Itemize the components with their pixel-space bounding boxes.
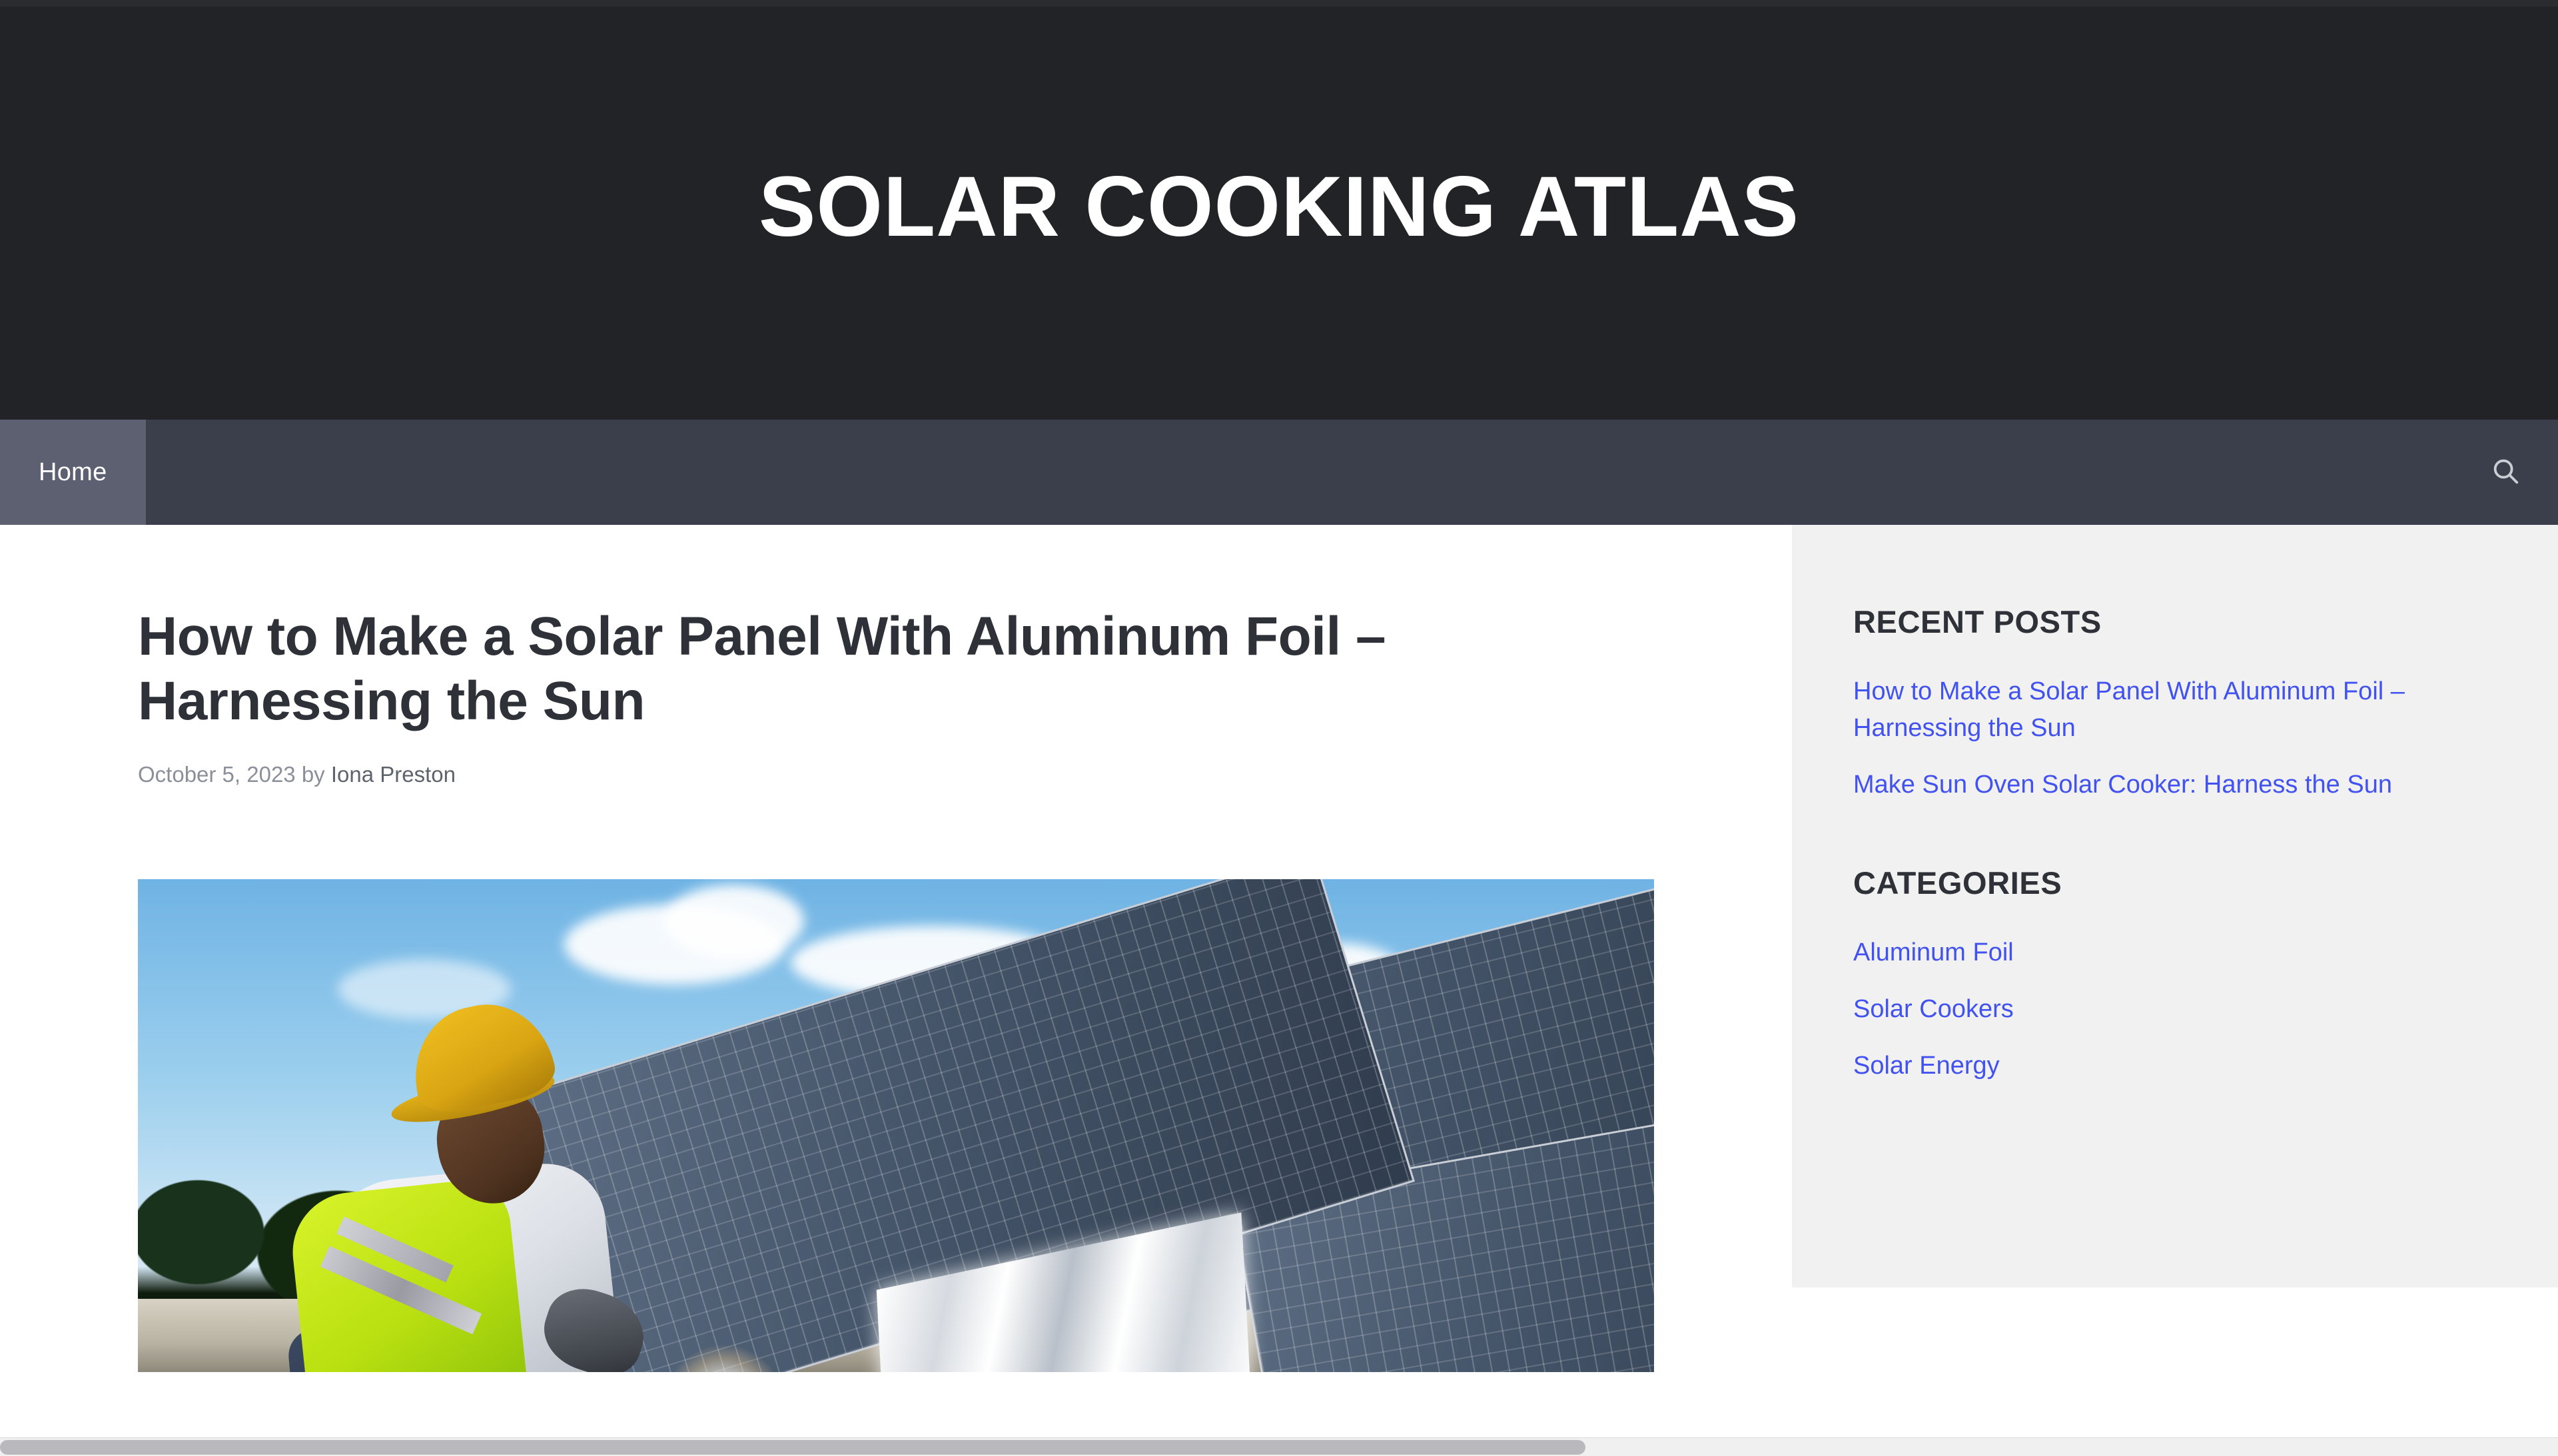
list-item: Aluminum Foil bbox=[1853, 934, 2495, 971]
content-area: How to Make a Solar Panel With Aluminum … bbox=[0, 525, 2558, 1403]
nav-spacer bbox=[146, 420, 2453, 525]
article-title: How to Make a Solar Panel With Aluminum … bbox=[138, 605, 1670, 734]
article-by-label: by bbox=[302, 762, 325, 787]
cloud-shape bbox=[664, 885, 804, 958]
horizontal-scrollbar[interactable] bbox=[0, 1437, 2558, 1456]
category-link-solar-energy[interactable]: Solar Energy bbox=[1853, 1048, 2000, 1084]
recent-post-link-1[interactable]: How to Make a Solar Panel With Aluminum … bbox=[1853, 673, 2495, 747]
widget-title-recent-posts: RECENT POSTS bbox=[1853, 603, 2495, 640]
article-main: How to Make a Solar Panel With Aluminum … bbox=[0, 525, 1792, 787]
horizontal-scrollbar-thumb[interactable] bbox=[0, 1440, 1585, 1455]
list-item: Make Sun Oven Solar Cooker: Harness the … bbox=[1853, 767, 2495, 803]
category-link-aluminum-foil[interactable]: Aluminum Foil bbox=[1853, 934, 2014, 971]
list-item: How to Make a Solar Panel With Aluminum … bbox=[1853, 673, 2495, 747]
widget-categories: CATEGORIES Aluminum Foil Solar Cookers S… bbox=[1853, 865, 2495, 1084]
search-toggle-button[interactable] bbox=[2453, 420, 2558, 525]
search-icon bbox=[2490, 456, 2521, 490]
yellow-hardhat bbox=[402, 992, 560, 1119]
recent-post-link-2[interactable]: Make Sun Oven Solar Cooker: Harness the … bbox=[1853, 767, 2392, 803]
article-featured-image bbox=[138, 879, 1654, 1372]
site-title: SOLAR COOKING ATLAS bbox=[759, 165, 1799, 250]
article-meta: October 5, 2023 by Iona Preston bbox=[138, 762, 1692, 787]
sun-flare bbox=[664, 1345, 784, 1372]
site-masthead: SOLAR COOKING ATLAS bbox=[0, 0, 2558, 420]
article-date: October 5, 2023 bbox=[138, 762, 296, 787]
widget-title-categories: CATEGORIES bbox=[1853, 865, 2495, 901]
worker-hivis-vest bbox=[287, 1176, 529, 1372]
sidebar: RECENT POSTS How to Make a Solar Panel W… bbox=[1792, 525, 2558, 1287]
recent-posts-list: How to Make a Solar Panel With Aluminum … bbox=[1853, 673, 2495, 803]
nav-item-list: Home bbox=[0, 420, 146, 525]
page-root: SOLAR COOKING ATLAS Home How to Make a S… bbox=[0, 0, 2558, 1456]
article-author: Iona Preston bbox=[331, 762, 456, 787]
category-link-solar-cookers[interactable]: Solar Cookers bbox=[1853, 991, 2014, 1028]
worker-figure bbox=[218, 1006, 724, 1372]
categories-list: Aluminum Foil Solar Cookers Solar Energy bbox=[1853, 934, 2495, 1084]
list-item: Solar Cookers bbox=[1853, 991, 2495, 1028]
list-item: Solar Energy bbox=[1853, 1048, 2495, 1084]
main-navigation: Home bbox=[0, 420, 2558, 525]
nav-item-home[interactable]: Home bbox=[0, 420, 146, 525]
widget-recent-posts: RECENT POSTS How to Make a Solar Panel W… bbox=[1853, 603, 2495, 803]
